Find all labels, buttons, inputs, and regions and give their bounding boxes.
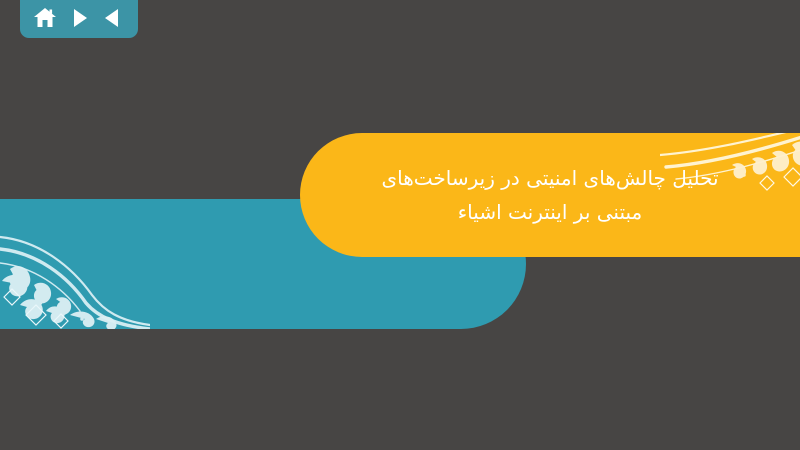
back-button[interactable]	[100, 5, 126, 31]
title-line-1: تحلیل چالش‌های امنیتی در زیرساخت‌های	[381, 163, 718, 193]
forward-button[interactable]	[66, 5, 92, 31]
presentation-slide: تحلیل چالش‌های امنیتی در زیرساخت‌های مبت…	[0, 0, 800, 450]
home-icon	[33, 6, 57, 30]
home-button[interactable]	[32, 5, 58, 31]
title-line-2: مبتنی بر اینترنت اشیاء	[458, 197, 642, 227]
slide-title: تحلیل چالش‌های امنیتی در زیرساخت‌های مبت…	[300, 133, 800, 257]
arabesque-corner-ornament-teal	[0, 219, 150, 329]
navigation-bar	[20, 0, 138, 38]
back-icon	[102, 7, 124, 29]
forward-icon	[68, 7, 90, 29]
